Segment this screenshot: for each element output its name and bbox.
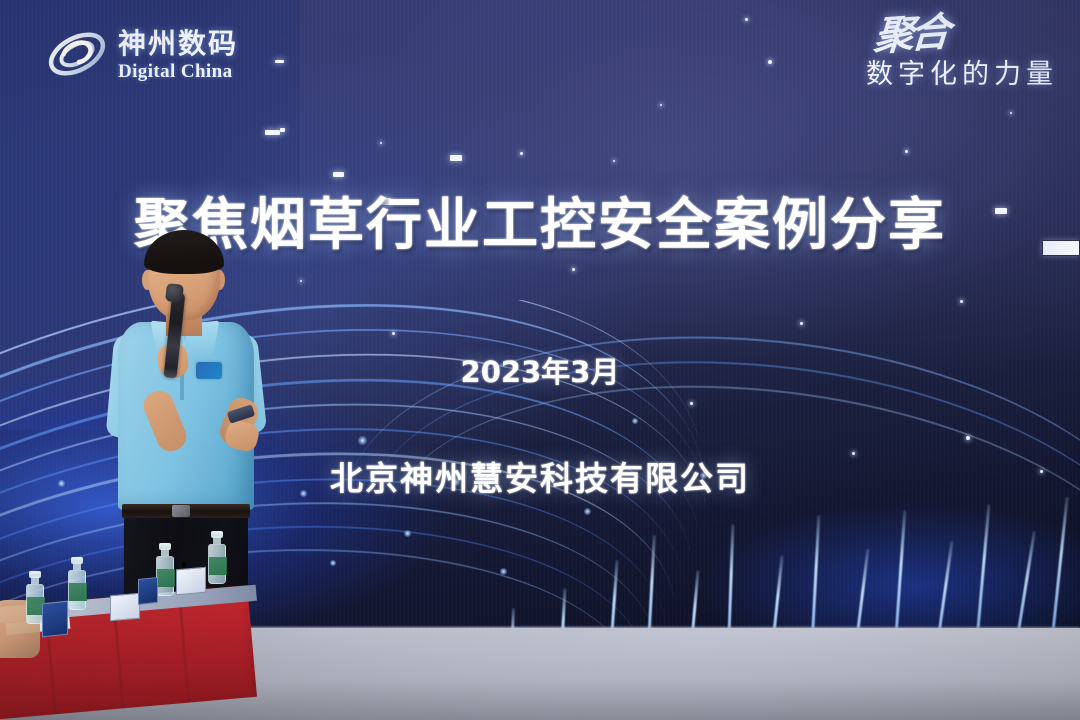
- table-placard: [110, 593, 140, 622]
- bottle-body: [208, 544, 226, 584]
- presenter-belt-buckle: [172, 505, 190, 517]
- bottle-label: [69, 583, 87, 601]
- brand-name-en: Digital China: [118, 62, 238, 81]
- bottle-neck: [73, 562, 81, 570]
- bottle-body: [68, 570, 86, 610]
- screen-edge-panel: [1042, 240, 1080, 256]
- bottle-label: [209, 557, 227, 575]
- event-slogan-block: 聚合 数字化的力量: [866, 16, 1058, 91]
- presenter-chest-logo: [196, 362, 222, 379]
- brand-name-cn: 神州数码: [118, 30, 238, 58]
- bottle-neck: [213, 536, 221, 544]
- bottle-body: [156, 556, 174, 596]
- water-bottle: [68, 558, 86, 610]
- table-name-card: [138, 577, 158, 605]
- presenter-hair: [144, 230, 224, 274]
- event-slogan-calligraphy: 聚合: [864, 13, 947, 56]
- digital-china-swirl-icon: [45, 24, 109, 84]
- bottle-neck: [161, 548, 169, 556]
- presenter-figure: [96, 222, 286, 622]
- brand-logo-block: 神州数码 Digital China: [45, 18, 305, 90]
- bottle-neck: [31, 576, 39, 584]
- front-row-table: [0, 580, 258, 720]
- conference-stage-photo: 神州数码 Digital China 聚合 数字化的力量 聚焦烟草行业工控安全案…: [0, 0, 1080, 720]
- bottle-label: [157, 569, 175, 587]
- brand-wordmark: 神州数码 Digital China: [118, 28, 238, 81]
- table-placard: [176, 567, 206, 596]
- table-name-card: [42, 601, 68, 638]
- water-bottle: [156, 544, 174, 596]
- microphone-head-icon: [165, 283, 184, 303]
- water-bottle: [208, 532, 226, 584]
